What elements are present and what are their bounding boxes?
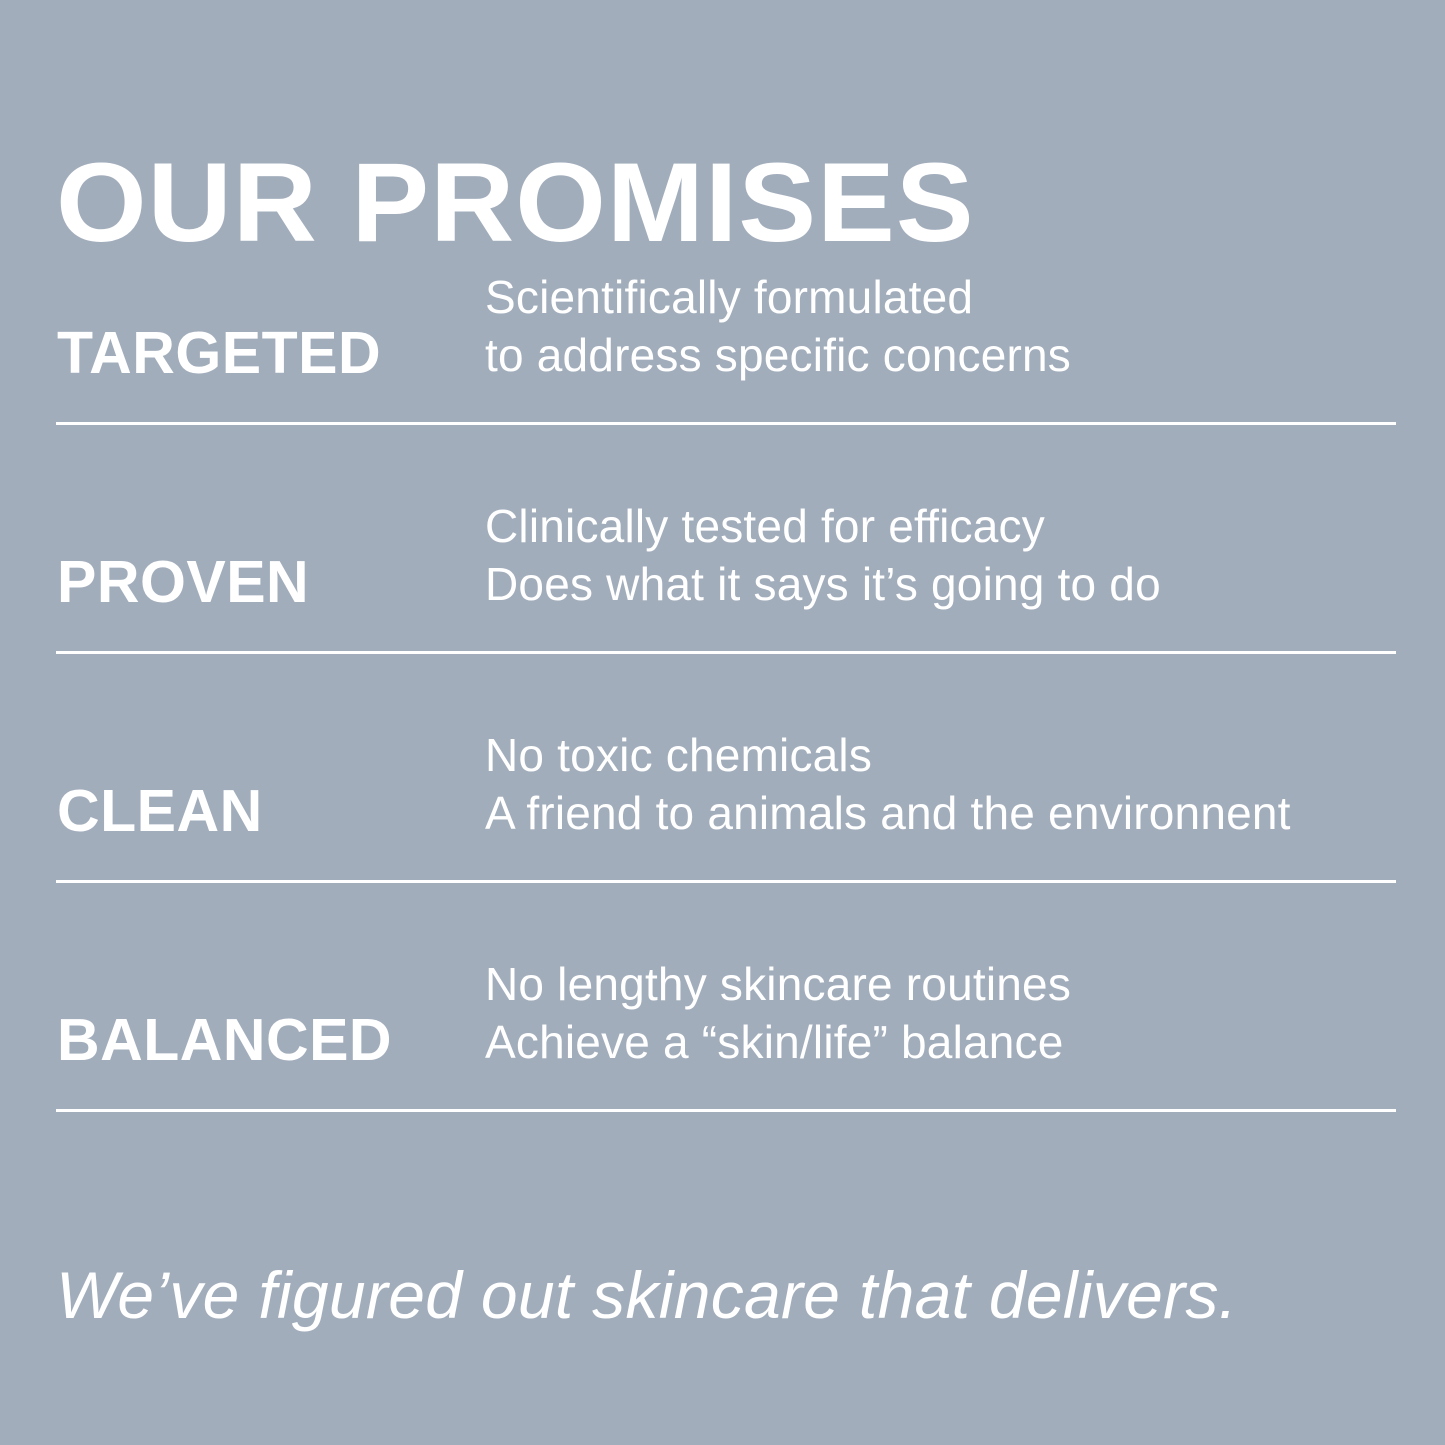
promise-row-proven: PROVEN Clinically tested for efficacy Do… [0, 425, 1445, 654]
promise-description-clean: No toxic chemicals A friend to animals a… [485, 726, 1291, 842]
promises-list: TARGETED Scientifically formulated to ad… [0, 196, 1445, 1112]
promise-label-clean: CLEAN [57, 782, 263, 841]
promise-description-line-2: Does what it says it’s going to do [485, 555, 1161, 613]
promise-description-line-1: No lengthy skincare routines [485, 955, 1071, 1013]
promise-description-proven: Clinically tested for efficacy Does what… [485, 497, 1161, 613]
promise-label-proven: PROVEN [57, 553, 309, 612]
promise-row-clean: CLEAN No toxic chemicals A friend to ani… [0, 654, 1445, 883]
promise-row-targeted: TARGETED Scientifically formulated to ad… [0, 196, 1445, 425]
promise-label-targeted: TARGETED [57, 324, 381, 383]
promise-row-balanced: BALANCED No lengthy skincare routines Ac… [0, 883, 1445, 1112]
promise-description-balanced: No lengthy skincare routines Achieve a “… [485, 955, 1071, 1071]
promise-label-balanced: BALANCED [57, 1011, 392, 1070]
promise-description-line-1: Clinically tested for efficacy [485, 497, 1161, 555]
promise-description-line-2: A friend to animals and the environnent [485, 784, 1291, 842]
row-divider [56, 1109, 1396, 1112]
promise-description-targeted: Scientifically formulated to address spe… [485, 268, 1071, 384]
promise-description-line-2: to address specific concerns [485, 326, 1071, 384]
promise-description-line-1: No toxic chemicals [485, 726, 1291, 784]
promise-description-line-2: Achieve a “skin/life” balance [485, 1013, 1071, 1071]
promise-description-line-1: Scientifically formulated [485, 268, 1071, 326]
our-promises-poster: OUR PROMISES TARGETED Scientifically for… [0, 0, 1445, 1445]
footer-tagline: We’ve figured out skincare that delivers… [56, 1262, 1237, 1328]
